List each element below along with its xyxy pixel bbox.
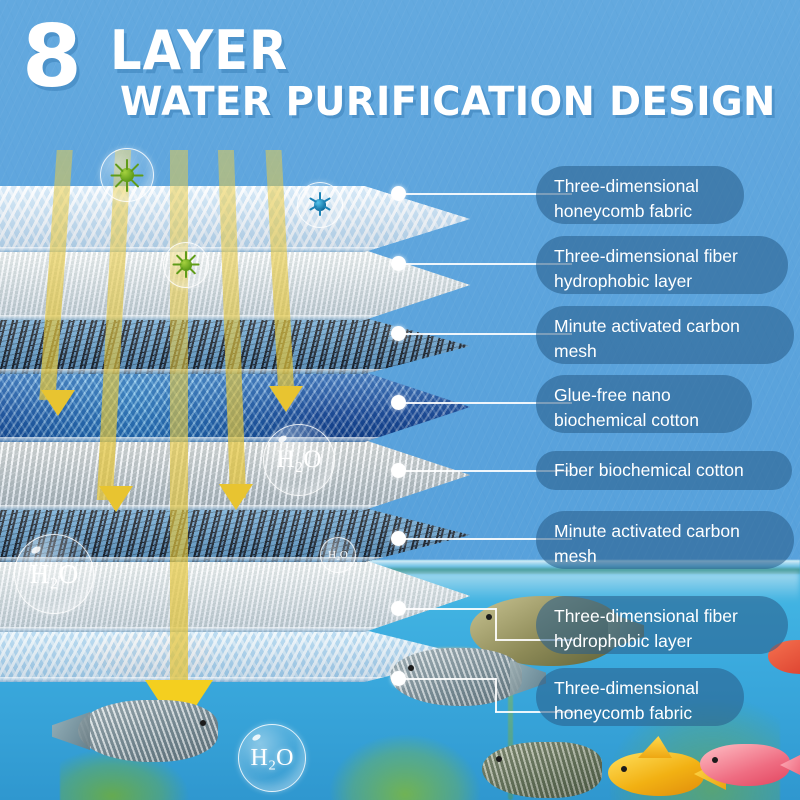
layer-count-number: 8 <box>22 14 80 100</box>
label-1-line1: Three-dimensional <box>554 174 726 199</box>
label-6-line1: Minute activated carbon <box>554 519 776 544</box>
label-8-line1: Three-dimensional <box>554 676 726 701</box>
label-3-line1: Minute activated carbon <box>554 314 776 339</box>
label-pill-3[interactable]: Minute activated carbon mesh <box>536 306 794 364</box>
label-pill-7[interactable]: Three-dimensional fiber hydrophobic laye… <box>536 596 788 654</box>
label-3-line2: mesh <box>554 339 776 364</box>
title-block: 8 LAYER WATER PURIFICATION DESIGN <box>0 0 800 140</box>
label-pill-1[interactable]: Three-dimensional honeycomb fabric <box>536 166 744 224</box>
label-7-line1: Three-dimensional fiber <box>554 604 770 629</box>
label-pill-6[interactable]: Minute activated carbon mesh <box>536 511 794 569</box>
label-4-line1: Glue-free nano <box>554 383 734 408</box>
label-pill-2[interactable]: Three-dimensional fiber hydrophobic laye… <box>536 236 788 294</box>
label-2-line2: hydrophobic layer <box>554 269 770 294</box>
title-line-2: WATER PURIFICATION DESIGN <box>120 82 776 122</box>
label-pill-4[interactable]: Glue-free nano biochemical cotton <box>536 375 752 433</box>
label-7-line2: hydrophobic layer <box>554 629 770 654</box>
label-6-line2: mesh <box>554 544 776 569</box>
label-8-line2: honeycomb fabric <box>554 701 726 726</box>
label-1-line2: honeycomb fabric <box>554 199 726 224</box>
label-4-line2: biochemical cotton <box>554 408 734 433</box>
label-pill-5[interactable]: Fiber biochemical cotton <box>536 451 792 490</box>
infographic-canvas: H₂O H₂O H₂O H₂O <box>0 0 800 800</box>
label-pill-8[interactable]: Three-dimensional honeycomb fabric <box>536 668 744 726</box>
label-2-line1: Three-dimensional fiber <box>554 244 770 269</box>
label-5-line1: Fiber biochemical cotton <box>554 458 774 483</box>
title-line-1: LAYER <box>110 24 288 78</box>
